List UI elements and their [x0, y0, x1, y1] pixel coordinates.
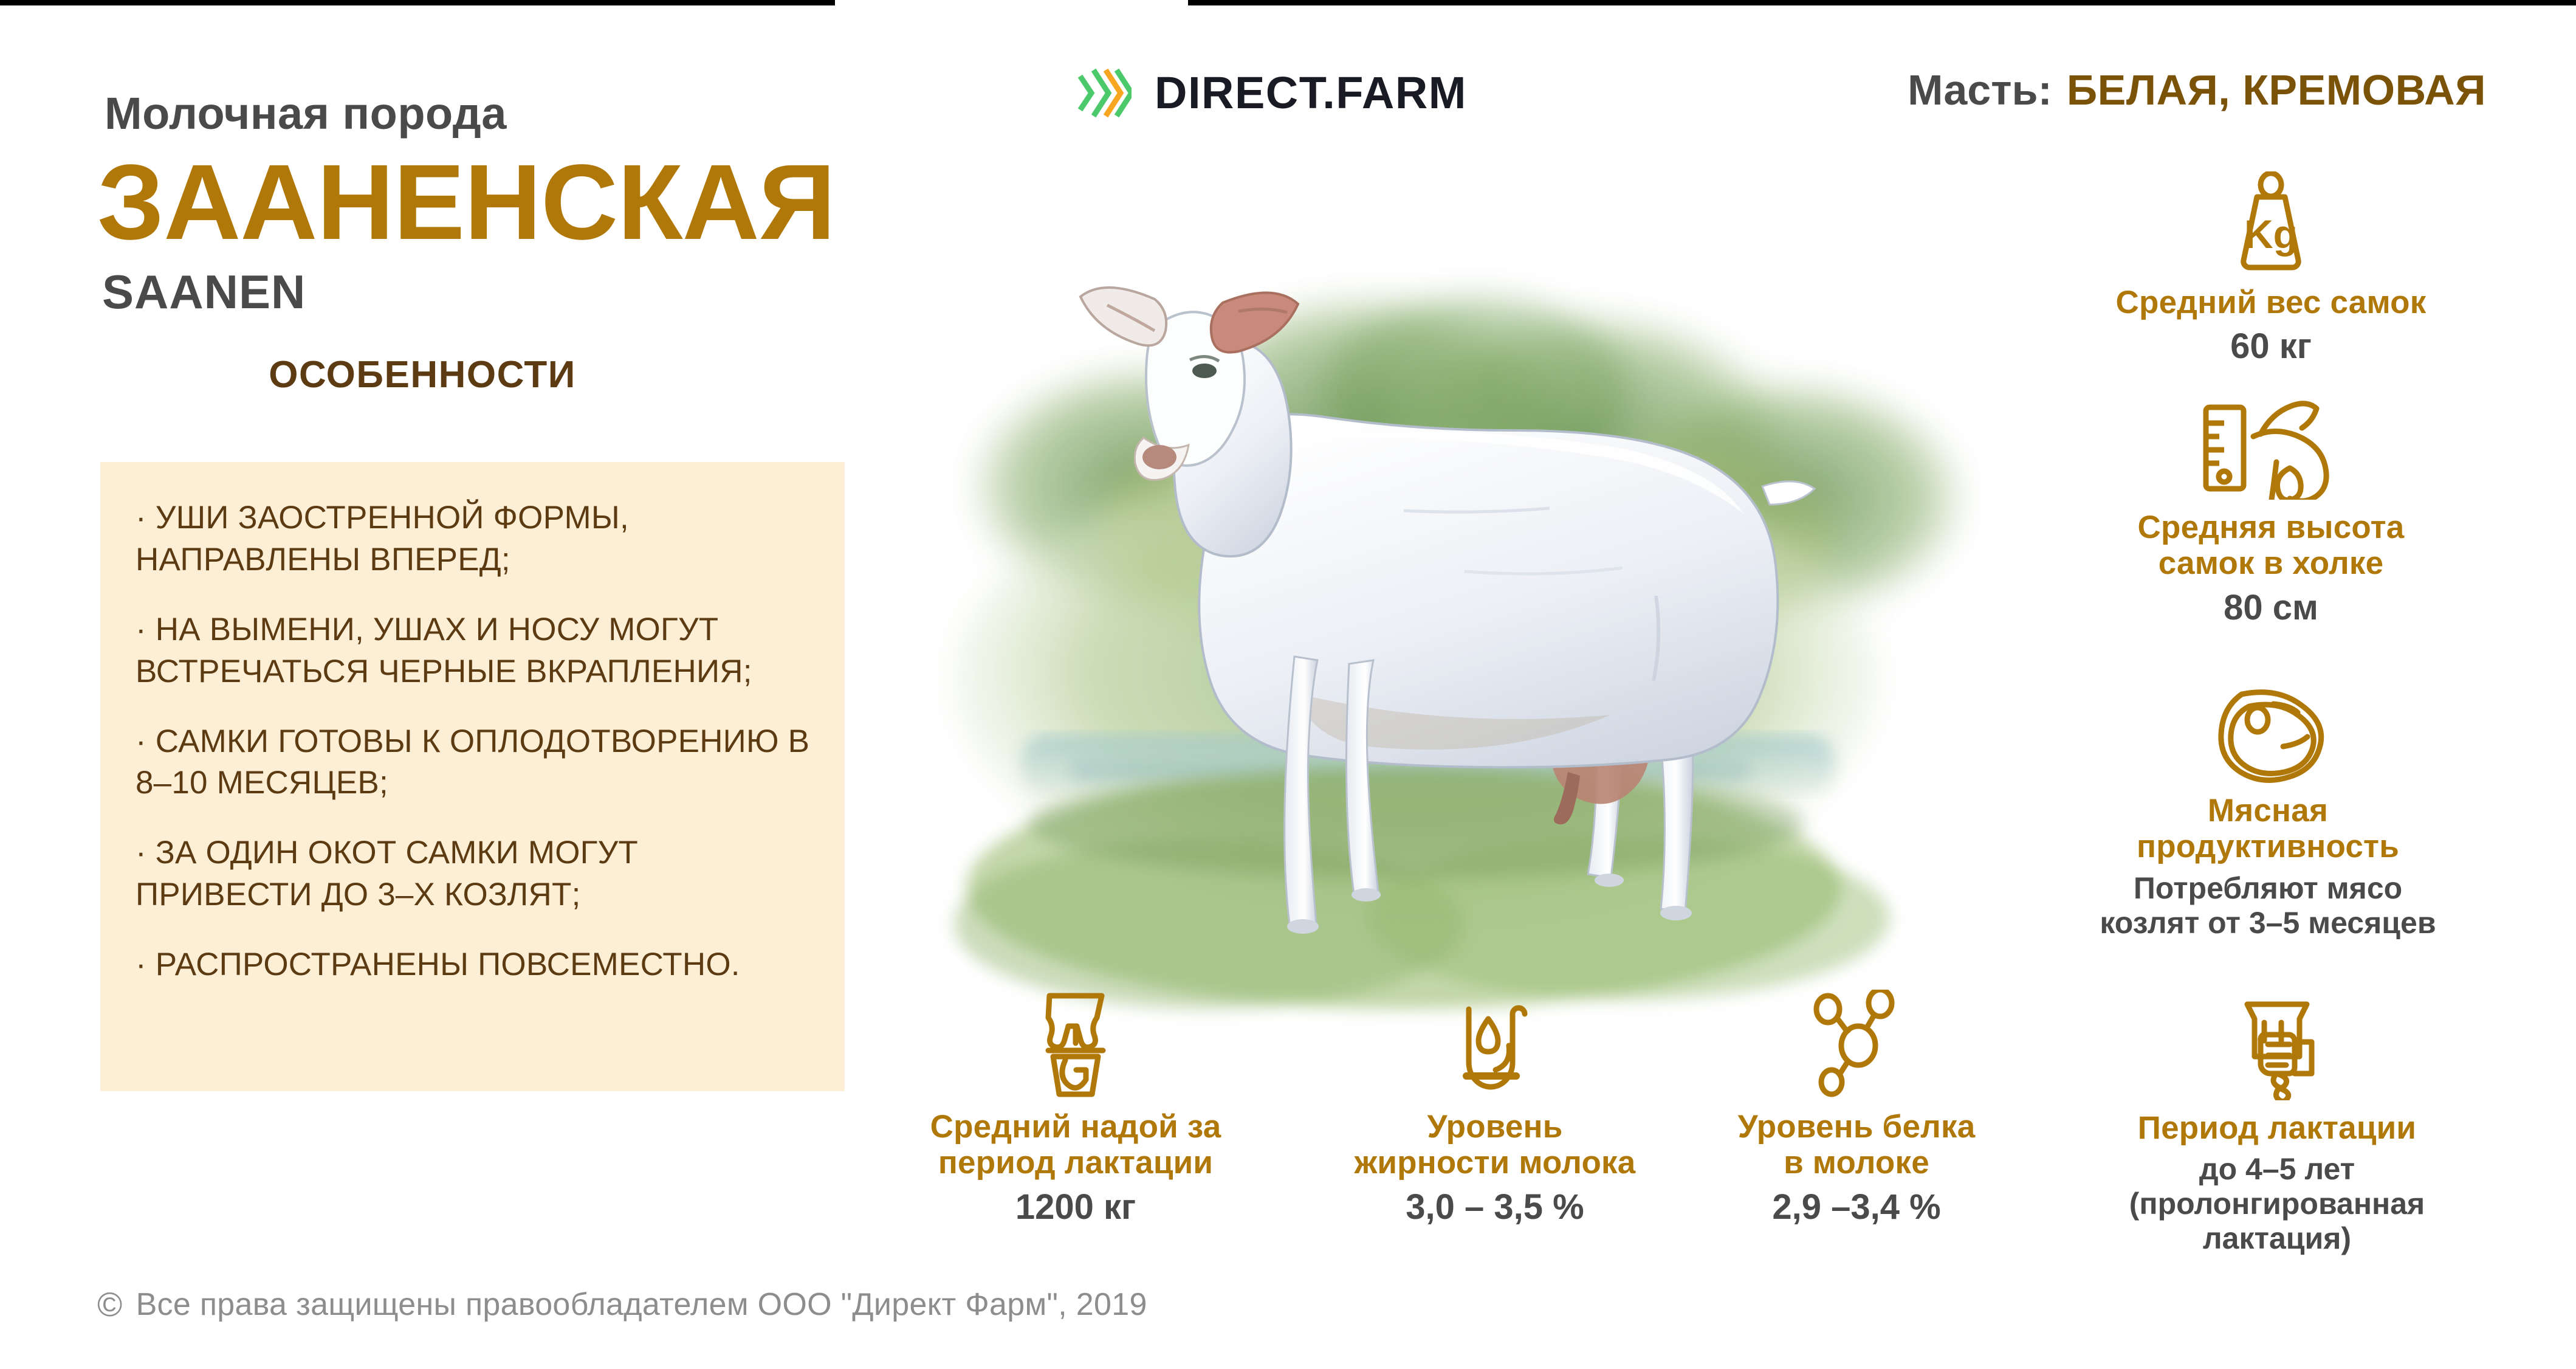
brand-logo-text: DIRECT.FARM — [1155, 71, 1467, 116]
left-column: Молочная порода ЗААНЕНСКАЯ SAANEN ОСОБЕН… — [0, 91, 869, 396]
stat-label: Средний надой за период лактации — [875, 1109, 1276, 1181]
feature-item: · САМКИ ГОТОВЫ К ОПЛОДОТВОРЕНИЮ В 8–10 М… — [136, 721, 814, 805]
stat-value: 80 см — [2040, 588, 2502, 628]
brand-logo[interactable]: DIRECT.FARM — [1076, 64, 1467, 122]
copyright-icon: © — [97, 1288, 123, 1322]
udder-bucket-icon — [875, 990, 1276, 1099]
stat-label: Средний вес самок — [2040, 284, 2502, 320]
molecule-icon — [1686, 990, 2027, 1099]
stat-average-height: Средняя высота самок в холке 80 см — [2040, 396, 2502, 628]
stat-value: 2,9 –3,4 % — [1686, 1187, 2027, 1227]
copyright-text: Все права защищены правообладателем ООО … — [136, 1286, 1147, 1323]
breed-latin-name: SAANEN — [102, 268, 869, 316]
weight-kg-icon: Kg — [2040, 171, 2502, 275]
stat-milk-fat: Уровень жирности молока 3,0 – 3,5 % — [1325, 1002, 1665, 1227]
stat-label: Уровень белка в молоке — [1686, 1109, 2027, 1181]
top-rule-right — [1188, 0, 2576, 5]
coat-colour-label: Масть: — [1908, 66, 2052, 114]
features-box: · УШИ ЗАОСТРЕННОЙ ФОРМЫ, НАПРАВЛЕНЫ ВПЕР… — [100, 462, 845, 1091]
stat-milk-protein: Уровень белка в молоке 2,9 –3,4 % — [1686, 990, 2027, 1227]
feature-item: · УШИ ЗАОСТРЕННОЙ ФОРМЫ, НАПРАВЛЕНЫ ВПЕР… — [136, 497, 814, 581]
feature-item: · НА ВЫМЕНИ, УШАХ И НОСУ МОГУТ ВСТРЕЧАТЬ… — [136, 609, 814, 693]
stat-label: Период лактации — [2052, 1110, 2502, 1146]
breed-kicker: Молочная порода — [105, 91, 869, 136]
stat-milk-yield: Средний надой за период лактации 1200 кг — [875, 990, 1276, 1227]
stat-average-weight: Kg Средний вес самок 60 кг — [2040, 171, 2502, 367]
svg-text:Kg: Kg — [2244, 212, 2298, 257]
stat-value: 3,0 – 3,5 % — [1325, 1187, 1665, 1227]
stat-lactation-period: Период лактации до 4–5 лет (пролонгирова… — [2052, 997, 2502, 1256]
steak-icon — [2028, 686, 2508, 783]
ruler-goat-icon — [2040, 396, 2502, 500]
copyright-footer: © Все права защищены правообладателем ОО… — [97, 1286, 1147, 1323]
stat-label: Средняя высота самок в холке — [2040, 509, 2502, 582]
stat-value: до 4–5 лет (пролонгированная лактация) — [2052, 1152, 2502, 1256]
coat-colour-value: БЕЛАЯ, КРЕМОВАЯ — [2067, 66, 2486, 114]
page-title: ЗААНЕНСКАЯ — [97, 152, 869, 253]
stat-label: Уровень жирности молока — [1325, 1109, 1665, 1181]
milking-hand-icon — [2052, 997, 2502, 1100]
coat-colour: Масть: БЕЛАЯ, КРЕМОВАЯ — [1908, 66, 2486, 114]
milk-drop-icon — [1325, 1002, 1665, 1099]
stat-label: Мясная продуктивность — [2028, 793, 2508, 865]
features-heading: ОСОБЕННОСТИ — [0, 353, 845, 396]
feature-item: · ЗА ОДИН ОКОТ САМКИ МОГУТ ПРИВЕСТИ ДО 3… — [136, 832, 814, 916]
goat-illustration — [869, 170, 1981, 1040]
stat-meat-productivity: Мясная продуктивность Потребляют мясо ко… — [2028, 686, 2508, 940]
stat-value: 60 кг — [2040, 326, 2502, 367]
feature-item: · РАСПРОСТРАНЕНЫ ПОВСЕМЕСТНО. — [136, 944, 814, 986]
stat-value: 1200 кг — [875, 1187, 1276, 1227]
chevron-logo-icon — [1076, 64, 1132, 122]
top-rule-left — [0, 0, 835, 5]
stat-value: Потребляют мясо козлят от 3–5 месяцев — [2028, 871, 2508, 940]
